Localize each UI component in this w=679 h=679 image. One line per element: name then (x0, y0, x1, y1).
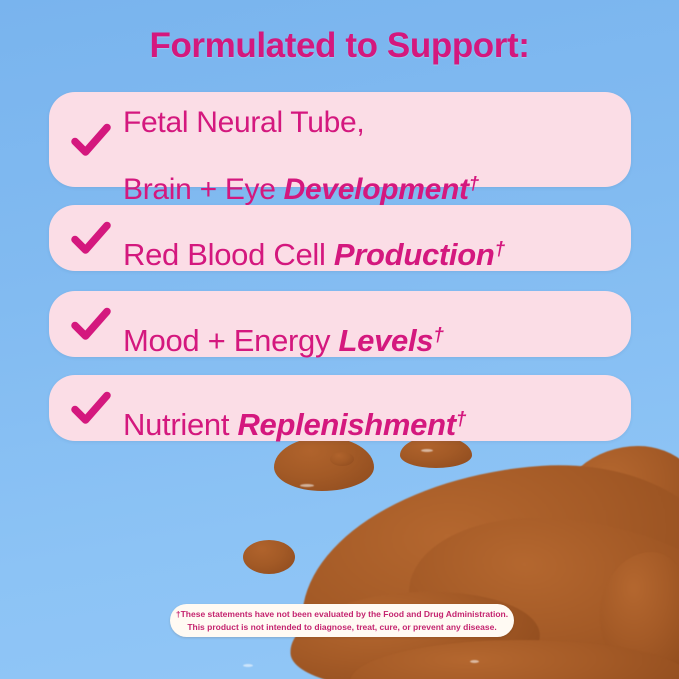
benefit-card-replenishment: Nutrient Replenishment† (49, 375, 631, 441)
checkmark-icon (69, 216, 113, 260)
benefit-emphasis: Replenishment (237, 407, 455, 442)
dagger-marker: † (495, 239, 505, 260)
spill-highlight-1 (300, 484, 314, 487)
checkmark-icon (69, 302, 113, 346)
spill-highlight-3 (243, 664, 253, 667)
benefit-card-development: Fetal Neural Tube, Brain + Eye Developme… (49, 92, 631, 187)
dagger-marker: † (433, 325, 443, 346)
spill-blob-lower-arm (600, 552, 679, 679)
spill-droplet-3 (243, 540, 295, 574)
benefit-line-2: Brain + Eye (123, 173, 284, 206)
benefit-emphasis: Production (334, 237, 495, 272)
benefit-card-mood-energy: Mood + Energy Levels† (49, 291, 631, 357)
benefit-plain-text: Red Blood Cell (123, 237, 334, 272)
disclaimer-line-1: †These statements have not been evaluate… (176, 608, 508, 620)
benefit-card-production: Red Blood Cell Production† (49, 205, 631, 271)
benefit-label: Fetal Neural Tube, Brain + Eye Developme… (123, 72, 479, 206)
spill-highlight-4 (470, 660, 479, 663)
spill-blob-bottom (350, 640, 679, 679)
spill-droplet-4 (330, 452, 354, 466)
dagger-marker: † (456, 409, 466, 430)
benefit-line-1: Fetal Neural Tube, (123, 106, 364, 139)
spill-highlight-2 (421, 449, 433, 452)
benefit-emphasis: Development (284, 173, 469, 206)
spill-blob-upper-arm (556, 446, 679, 566)
page-title: Formulated to Support: (0, 26, 679, 66)
fda-disclaimer: †These statements have not been evaluate… (170, 604, 514, 637)
benefit-plain-text: Mood + Energy (123, 323, 339, 358)
spill-blob-right-edge (628, 470, 679, 620)
benefit-plain-text: Nutrient (123, 407, 237, 442)
benefit-emphasis: Levels (339, 323, 434, 358)
benefit-label: Red Blood Cell Production† (123, 203, 505, 272)
product-benefits-graphic: Formulated to Support: Fetal Neural Tube… (0, 0, 679, 679)
benefits-list: Fetal Neural Tube, Brain + Eye Developme… (49, 92, 631, 441)
spill-blob-main-secondary (400, 504, 679, 679)
benefit-label: Mood + Energy Levels† (123, 289, 444, 358)
checkmark-icon (69, 118, 113, 162)
dagger-marker: † (469, 172, 479, 193)
disclaimer-line-2: This product is not intended to diagnose… (187, 621, 496, 633)
checkmark-icon (69, 386, 113, 430)
spill-droplet-1 (274, 437, 374, 491)
spill-blob-main (293, 453, 679, 679)
benefit-label: Nutrient Replenishment† (123, 373, 466, 442)
